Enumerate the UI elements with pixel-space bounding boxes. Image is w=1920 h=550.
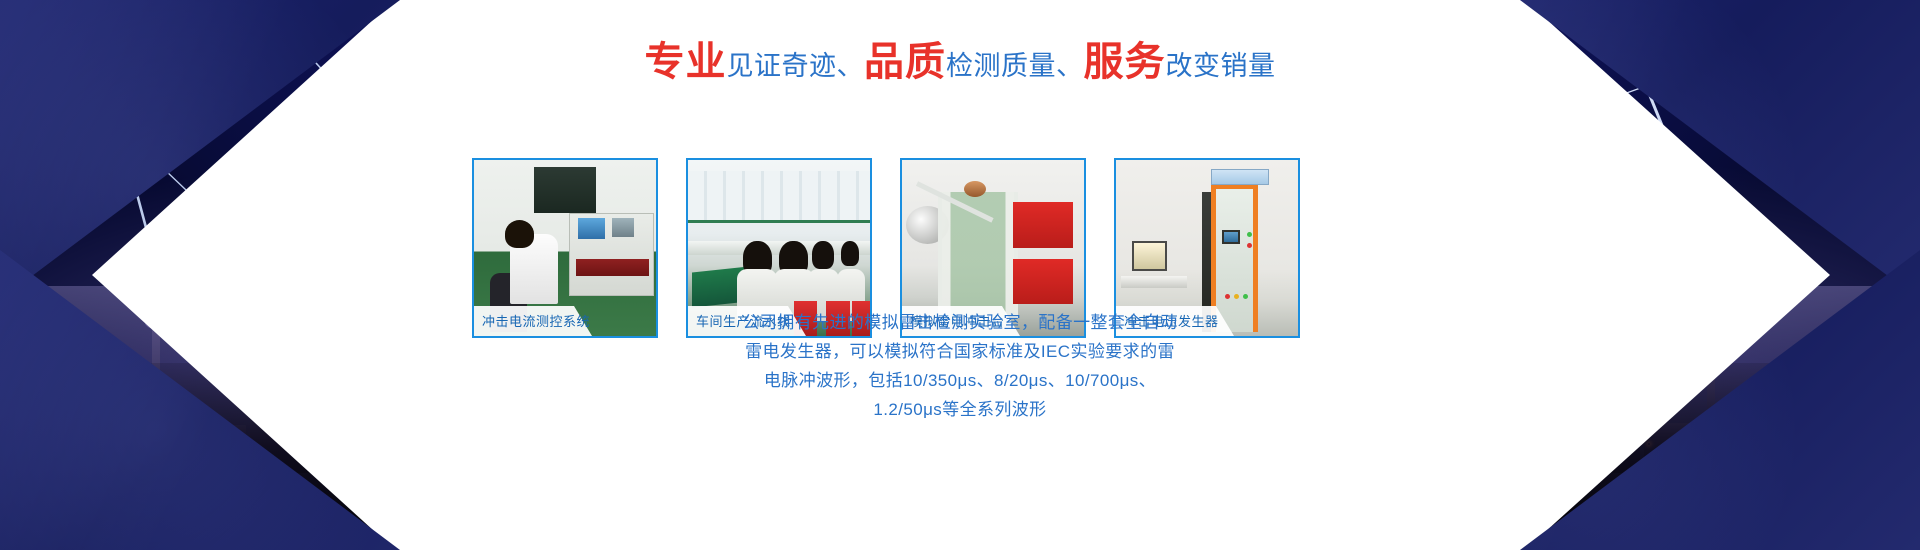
description-line-2: 雷电发生器，可以模拟符合国家标准及IEC实验要求的雷 [0,337,1920,366]
description-paragraph: 公司拥有先进的模拟雷击检测实验室，配备一整套全自动 雷电发生器，可以模拟符合国家… [0,308,1920,424]
headline: 专业见证奇迹、品质检测质量、服务改变销量 [0,42,1920,82]
lightning-lab-hero-banner: 专业见证奇迹、品质检测质量、服务改变销量 冲击电流测控系统 [0,0,1920,550]
headline-segment-1: 专业 [645,40,727,84]
headline-segment-4: 检测质量、 [946,51,1084,81]
description-line-4: 1.2/50μs等全系列波形 [0,395,1920,424]
description-line-1: 公司拥有先进的模拟雷击检测实验室，配备一整套全自动 [0,308,1920,337]
headline-segment-3: 品质 [864,40,946,84]
headline-segment-2: 见证奇迹、 [727,51,865,81]
headline-segment-5: 服务 [1084,40,1166,84]
headline-segment-6: 改变销量 [1166,51,1276,81]
description-line-3: 电脉冲波形，包括10/350μs、8/20μs、10/700μs、 [0,366,1920,395]
